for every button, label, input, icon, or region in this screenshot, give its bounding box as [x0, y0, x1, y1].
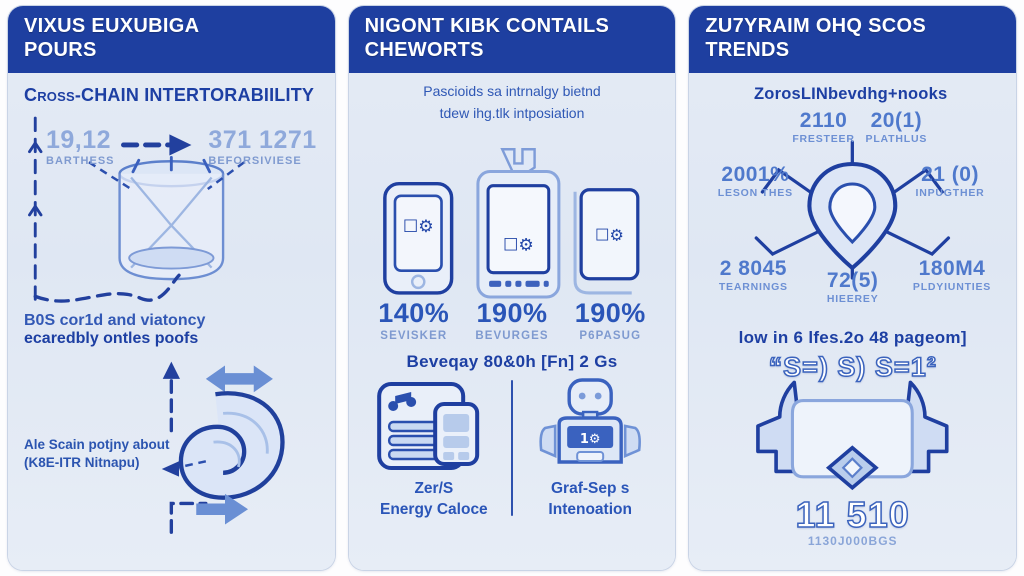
panel-right-header-line2: TRENDS: [705, 38, 1002, 62]
hub-node: 2001% LESON THES: [703, 164, 807, 199]
hub-node: 21 (0) INPUGTHER: [898, 164, 1002, 199]
panel-left-header-line2: POURS: [24, 38, 321, 62]
hub-node-value: 2 8045: [701, 258, 805, 279]
duo-item-energy: Zer/S Energy Caloce: [359, 376, 509, 520]
panel-right-hub: 2110 FRESTEER 20(1) PLATHLUS 2001% LESON…: [699, 108, 1006, 326]
robot-icon: 1⚙: [519, 376, 661, 472]
panel-left: VIXUS EUXUBIGA POURS Cross-CHAIN INTERTO…: [8, 6, 335, 570]
panel-right-header: ZU7YRAIM OHQ SCOS TRENDS: [689, 6, 1016, 73]
stat-value: 190%: [463, 299, 561, 329]
panel-middle-band: Beveqay 80&0h [Fn] 2 Gs: [359, 352, 666, 372]
stat-item: 190% P6PASUG: [561, 299, 659, 342]
panel-left-subtitle: Cross-CHAIN INTERTORABIILITY: [18, 79, 325, 110]
target-caption: BEFORSIVIESE: [208, 155, 316, 167]
source-caption: BARTHESS: [46, 155, 115, 167]
hub-node-caption: INPUGTHER: [898, 187, 1002, 199]
panel-middle-header-line1: NIGONT KIBK CONTAILS: [365, 15, 610, 37]
handshake-icon: [699, 377, 1006, 495]
duo-label-line2: Intenoation: [519, 500, 661, 519]
panel-left-mid-line-bottom: ecaredbly ontles poofs: [24, 330, 319, 348]
stat-item: 140% SEVISKER: [365, 299, 463, 342]
svg-text:1⚙: 1⚙: [580, 432, 601, 447]
hub-node: 180M4 PLDYIUNTIES: [900, 258, 1004, 293]
infographic-board: VIXUS EUXUBIGA POURS Cross-CHAIN INTERTO…: [0, 0, 1024, 576]
svg-text:☐⚙: ☐⚙: [595, 226, 624, 245]
note-line2: (K8E-ITR Nitnapu): [24, 454, 170, 472]
hub-node-caption: PLATHLUS: [844, 133, 948, 145]
hub-node-value: 20(1): [844, 110, 948, 131]
panel-left-header: VIXUS EUXUBIGA POURS: [8, 6, 335, 73]
duo-divider: [511, 380, 513, 516]
stat-caption: P6PASUG: [561, 330, 659, 342]
stat-value: 140%: [365, 299, 463, 329]
panel-left-header-line1: VIXUS EUXUBIGA: [24, 15, 199, 37]
hub-node: 72(5) HIEEREY: [801, 270, 905, 305]
hub-node-caption: PLDYIUNTIES: [900, 281, 1004, 293]
panel-right-body: ZorosLINbevdhg+nooks: [689, 73, 1016, 570]
panel-right: ZU7YRAIM OHQ SCOS TRENDS ZorosLINbevdhg+…: [689, 6, 1016, 570]
double-arrow-icon: [206, 365, 273, 392]
panel-middle-header: NIGONT KIBK CONTAILS CHEWORTS: [349, 6, 676, 73]
stat-caption: SEVISKER: [365, 330, 463, 342]
panel-middle-blurb-line1: Pascioids sa intrnalgy bietnd: [359, 79, 666, 101]
panel-left-source-stat: 19,12 BARTHESS: [46, 126, 115, 167]
duo-label-line1: Graf-Sep s: [519, 479, 661, 498]
hourglass-icon: [120, 157, 224, 279]
handshake-big-number: 11 510: [699, 494, 1006, 536]
panel-middle-body: Pascioids sa intrnalgy bietnd tdew ihg.t…: [349, 73, 676, 570]
hub-node-value: 72(5): [801, 270, 905, 291]
tablet-device-icon: ☐⚙: [478, 150, 559, 298]
panel-right-header-line1: ZU7YRAIM OHQ SCOS: [705, 15, 926, 37]
duo-item-robot: 1⚙ Graf-Sep s Intenoation: [515, 376, 665, 520]
phone-device-icon: ☐⚙: [385, 184, 452, 293]
stat-value: 190%: [561, 299, 659, 329]
hub-node-value: 2001%: [703, 164, 807, 185]
stat-item: 190% BEVURGES: [463, 299, 561, 342]
svg-text:☐⚙: ☐⚙: [503, 236, 534, 256]
hub-node: 2 8045 TEARNINGS: [701, 258, 805, 293]
panel-right-subtitle: ZorosLINbevdhg+nooks: [699, 79, 1006, 108]
panel-right-summary: low in 6 lfes.2o 48 pageom]: [699, 328, 1006, 348]
hub-node: 20(1) PLATHLUS: [844, 110, 948, 145]
duo-label-line1: Zer/S: [363, 479, 505, 498]
arrow-up-icon: [163, 361, 180, 378]
card-device-icon: ☐⚙: [575, 190, 638, 293]
panel-left-body: Cross-CHAIN INTERTORABIILITY: [8, 73, 335, 570]
target-number: 371 1271: [208, 126, 316, 155]
handshake-sub-number: 1130J000BGS: [699, 534, 1006, 548]
panel-left-target-stat: 371 1271 BEFORSIVIESE: [208, 126, 316, 167]
media-card-icon: [363, 376, 505, 472]
panel-middle-stats: 140% SEVISKER 190% BEVURGES 190% P6PASUG: [359, 299, 666, 342]
panel-middle-blurb-line2: tdew ihg.tlk intposiation: [359, 101, 666, 123]
arrow-head-icon: [169, 134, 191, 155]
panel-middle-header-line2: CHEWORTS: [365, 38, 662, 62]
note-line1: Ale Scain potjny about: [24, 436, 170, 454]
panel-middle: NIGONT KIBK CONTAILS CHEWORTS Pascioids …: [349, 6, 676, 570]
svg-text:☐⚙: ☐⚙: [402, 218, 433, 238]
hub-node-value: 21 (0): [898, 164, 1002, 185]
panel-middle-devices-art: ☐⚙ ☐⚙: [359, 127, 666, 299]
hub-node-caption: TEARNINGS: [701, 281, 805, 293]
duo-label-line2: Energy Caloce: [363, 500, 505, 519]
panel-middle-duo: Zer/S Energy Caloce 1⚙: [359, 376, 666, 520]
hub-node-value: 180M4: [900, 258, 1004, 279]
stat-caption: BEVURGES: [463, 330, 561, 342]
source-number: 19,12: [46, 126, 115, 155]
hub-node-caption: HIEEREY: [801, 293, 905, 305]
panel-left-note: Ale Scain potjny about (K8E-ITR Nitnapu): [24, 436, 170, 472]
hub-node-caption: LESON THES: [703, 187, 807, 199]
location-pin-icon: [810, 164, 896, 268]
